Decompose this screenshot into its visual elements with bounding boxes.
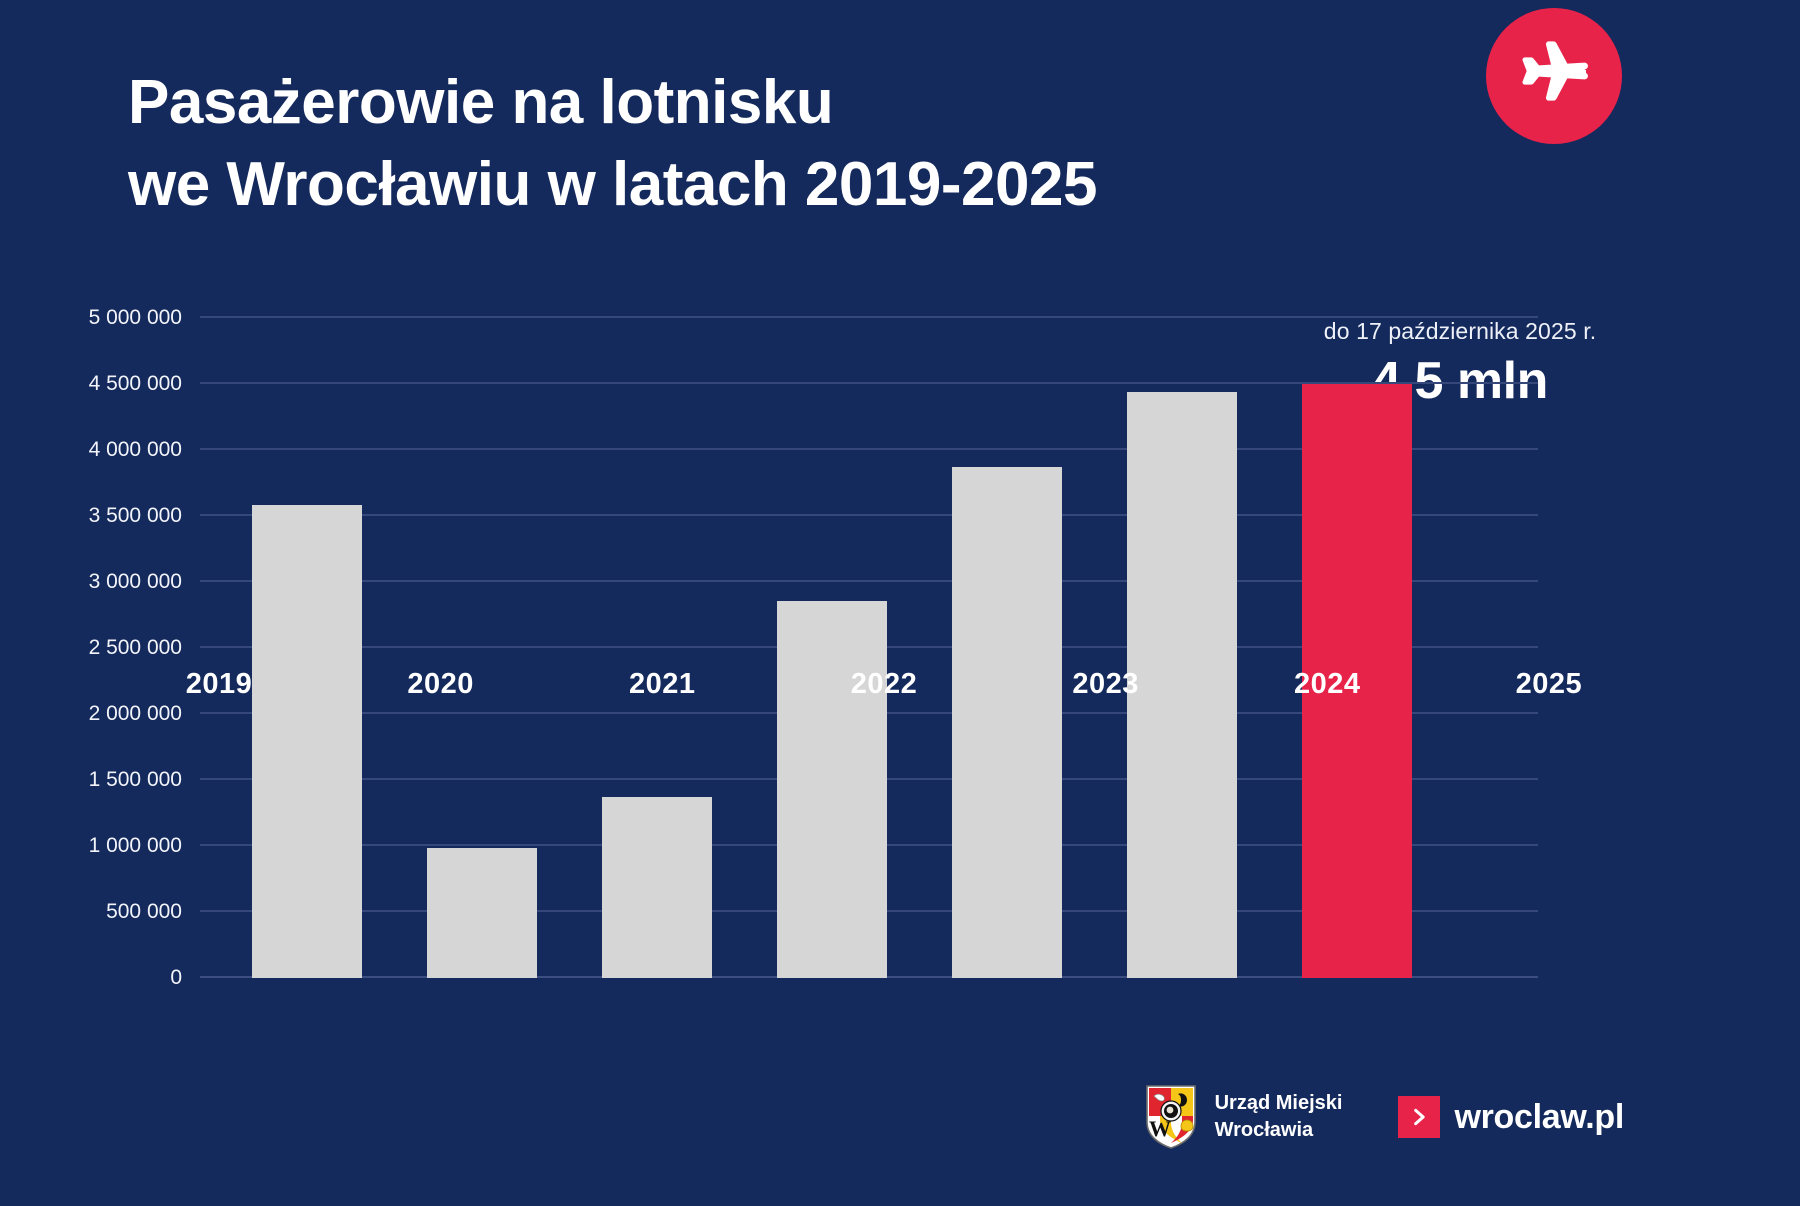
x-axis-label-2023: 2023 — [1051, 668, 1161, 701]
y-axis-tick-label: 0 — [170, 966, 182, 990]
x-axis-label-2019: 2019 — [164, 668, 274, 701]
bar-2019[interactable] — [252, 505, 362, 978]
y-axis-tick-label: 4 500 000 — [89, 372, 182, 396]
bar-slot — [602, 318, 712, 978]
y-axis-tick-label: 2 500 000 — [89, 636, 182, 660]
y-axis-tick-label: 1 000 000 — [89, 834, 182, 858]
x-axis-label-2024: 2024 — [1272, 668, 1382, 701]
page-title: Pasażerowie na lotnisku we Wrocławiu w l… — [128, 62, 1368, 226]
bar-slot — [427, 318, 537, 978]
x-axis-label-2025: 2025 — [1494, 668, 1604, 701]
header: Pasażerowie na lotnisku we Wrocławiu w l… — [128, 62, 1688, 226]
airplane-icon — [1486, 8, 1622, 144]
x-axis: 2019202020212022202320242025 — [112, 668, 1610, 701]
city-office-logo[interactable]: W Urząd Miejski Wrocławia — [1145, 1084, 1343, 1150]
y-axis-tick-label: 3 500 000 — [89, 504, 182, 528]
chevron-right-icon — [1398, 1096, 1440, 1138]
bar-2021[interactable] — [602, 797, 712, 978]
bar-2023[interactable] — [952, 467, 1062, 979]
wroclaw-pl-label: wroclaw.pl — [1454, 1098, 1624, 1137]
bar-slot — [952, 318, 1062, 978]
y-axis-tick-label: 1 500 000 — [89, 768, 182, 792]
y-axis-tick-label: 5 000 000 — [89, 306, 182, 330]
bar-series — [200, 318, 1418, 978]
wroclaw-coat-of-arms-icon: W — [1145, 1084, 1197, 1150]
y-axis: 0500 0001 000 0001 500 0002 000 0002 500… — [88, 318, 200, 978]
x-axis-label-2020: 2020 — [386, 668, 496, 701]
x-axis-label-2021: 2021 — [607, 668, 717, 701]
y-axis-tick-label: 4 000 000 — [89, 438, 182, 462]
bar-2022[interactable] — [777, 601, 887, 978]
y-axis-tick-label: 500 000 — [106, 900, 182, 924]
bar-slot — [1127, 318, 1237, 978]
city-office-label: Urząd Miejski Wrocławia — [1215, 1090, 1343, 1144]
wroclaw-pl-logo[interactable]: wroclaw.pl — [1398, 1096, 1624, 1138]
y-axis-tick-label: 2 000 000 — [89, 702, 182, 726]
y-axis-tick-label: 3 000 000 — [89, 570, 182, 594]
bar-slot — [252, 318, 362, 978]
footer: W Urząd Miejski Wrocławia wroclaw.pl — [1145, 1084, 1624, 1150]
bar-slot — [1302, 318, 1412, 978]
plot-area — [200, 318, 1418, 978]
bar-slot — [777, 318, 887, 978]
bar-chart: 0500 0001 000 0001 500 0002 000 0002 500… — [88, 318, 1608, 978]
bar-2020[interactable] — [427, 848, 537, 978]
x-axis-label-2022: 2022 — [829, 668, 939, 701]
